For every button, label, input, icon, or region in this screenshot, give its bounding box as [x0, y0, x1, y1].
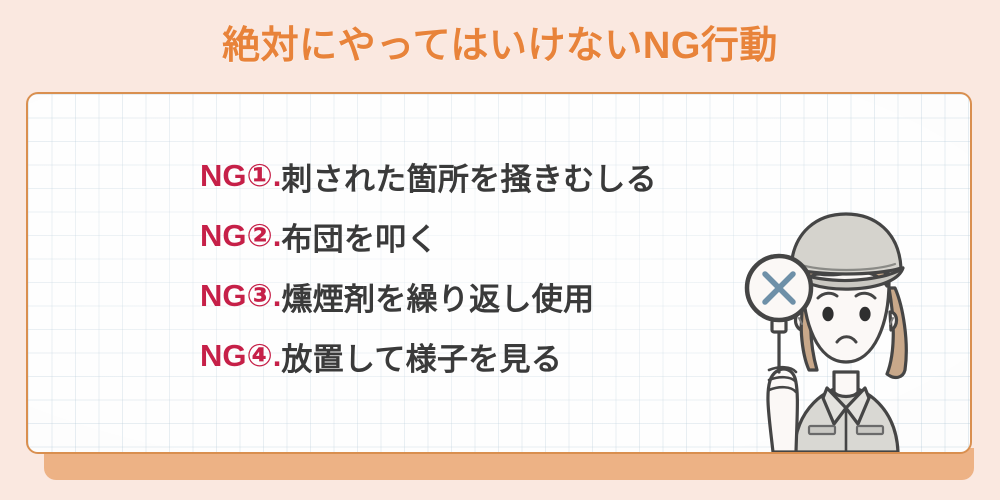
ng-item-tag: NG④.	[200, 338, 281, 374]
worried-worker-illustration	[739, 202, 954, 452]
grid-note-card: NG①. 刺された箇所を掻きむしる NG②. 布団を叩く NG③. 燻煙剤を繰り…	[26, 92, 972, 454]
list-item: NG③. 燻煙剤を繰り返し使用	[200, 266, 800, 326]
ng-item-text: 刺された箇所を掻きむしる	[281, 154, 657, 199]
page-title: 絶対にやってはいけないNG行動	[0, 16, 1000, 78]
ng-item-text: 布団を叩く	[281, 214, 438, 259]
worried-worker-icon	[739, 202, 954, 452]
ng-item-text: 放置して様子を見る	[281, 334, 562, 379]
page-title-text: 絶対にやってはいけないNG行動	[222, 26, 778, 68]
slide-root: 絶対にやってはいけないNG行動 NG①. 刺された箇所を掻きむしる NG②. 布…	[0, 0, 1000, 500]
list-item: NG②. 布団を叩く	[200, 206, 800, 266]
list-item: NG④. 放置して様子を見る	[200, 326, 800, 386]
ng-item-text: 燻煙剤を繰り返し使用	[281, 274, 594, 319]
list-item: NG①. 刺された箇所を掻きむしる	[200, 146, 800, 206]
ng-item-tag: NG①.	[200, 158, 281, 194]
ng-item-tag: NG③.	[200, 278, 281, 314]
ng-item-tag: NG②.	[200, 218, 281, 254]
ng-list: NG①. 刺された箇所を掻きむしる NG②. 布団を叩く NG③. 燻煙剤を繰り…	[200, 146, 800, 386]
